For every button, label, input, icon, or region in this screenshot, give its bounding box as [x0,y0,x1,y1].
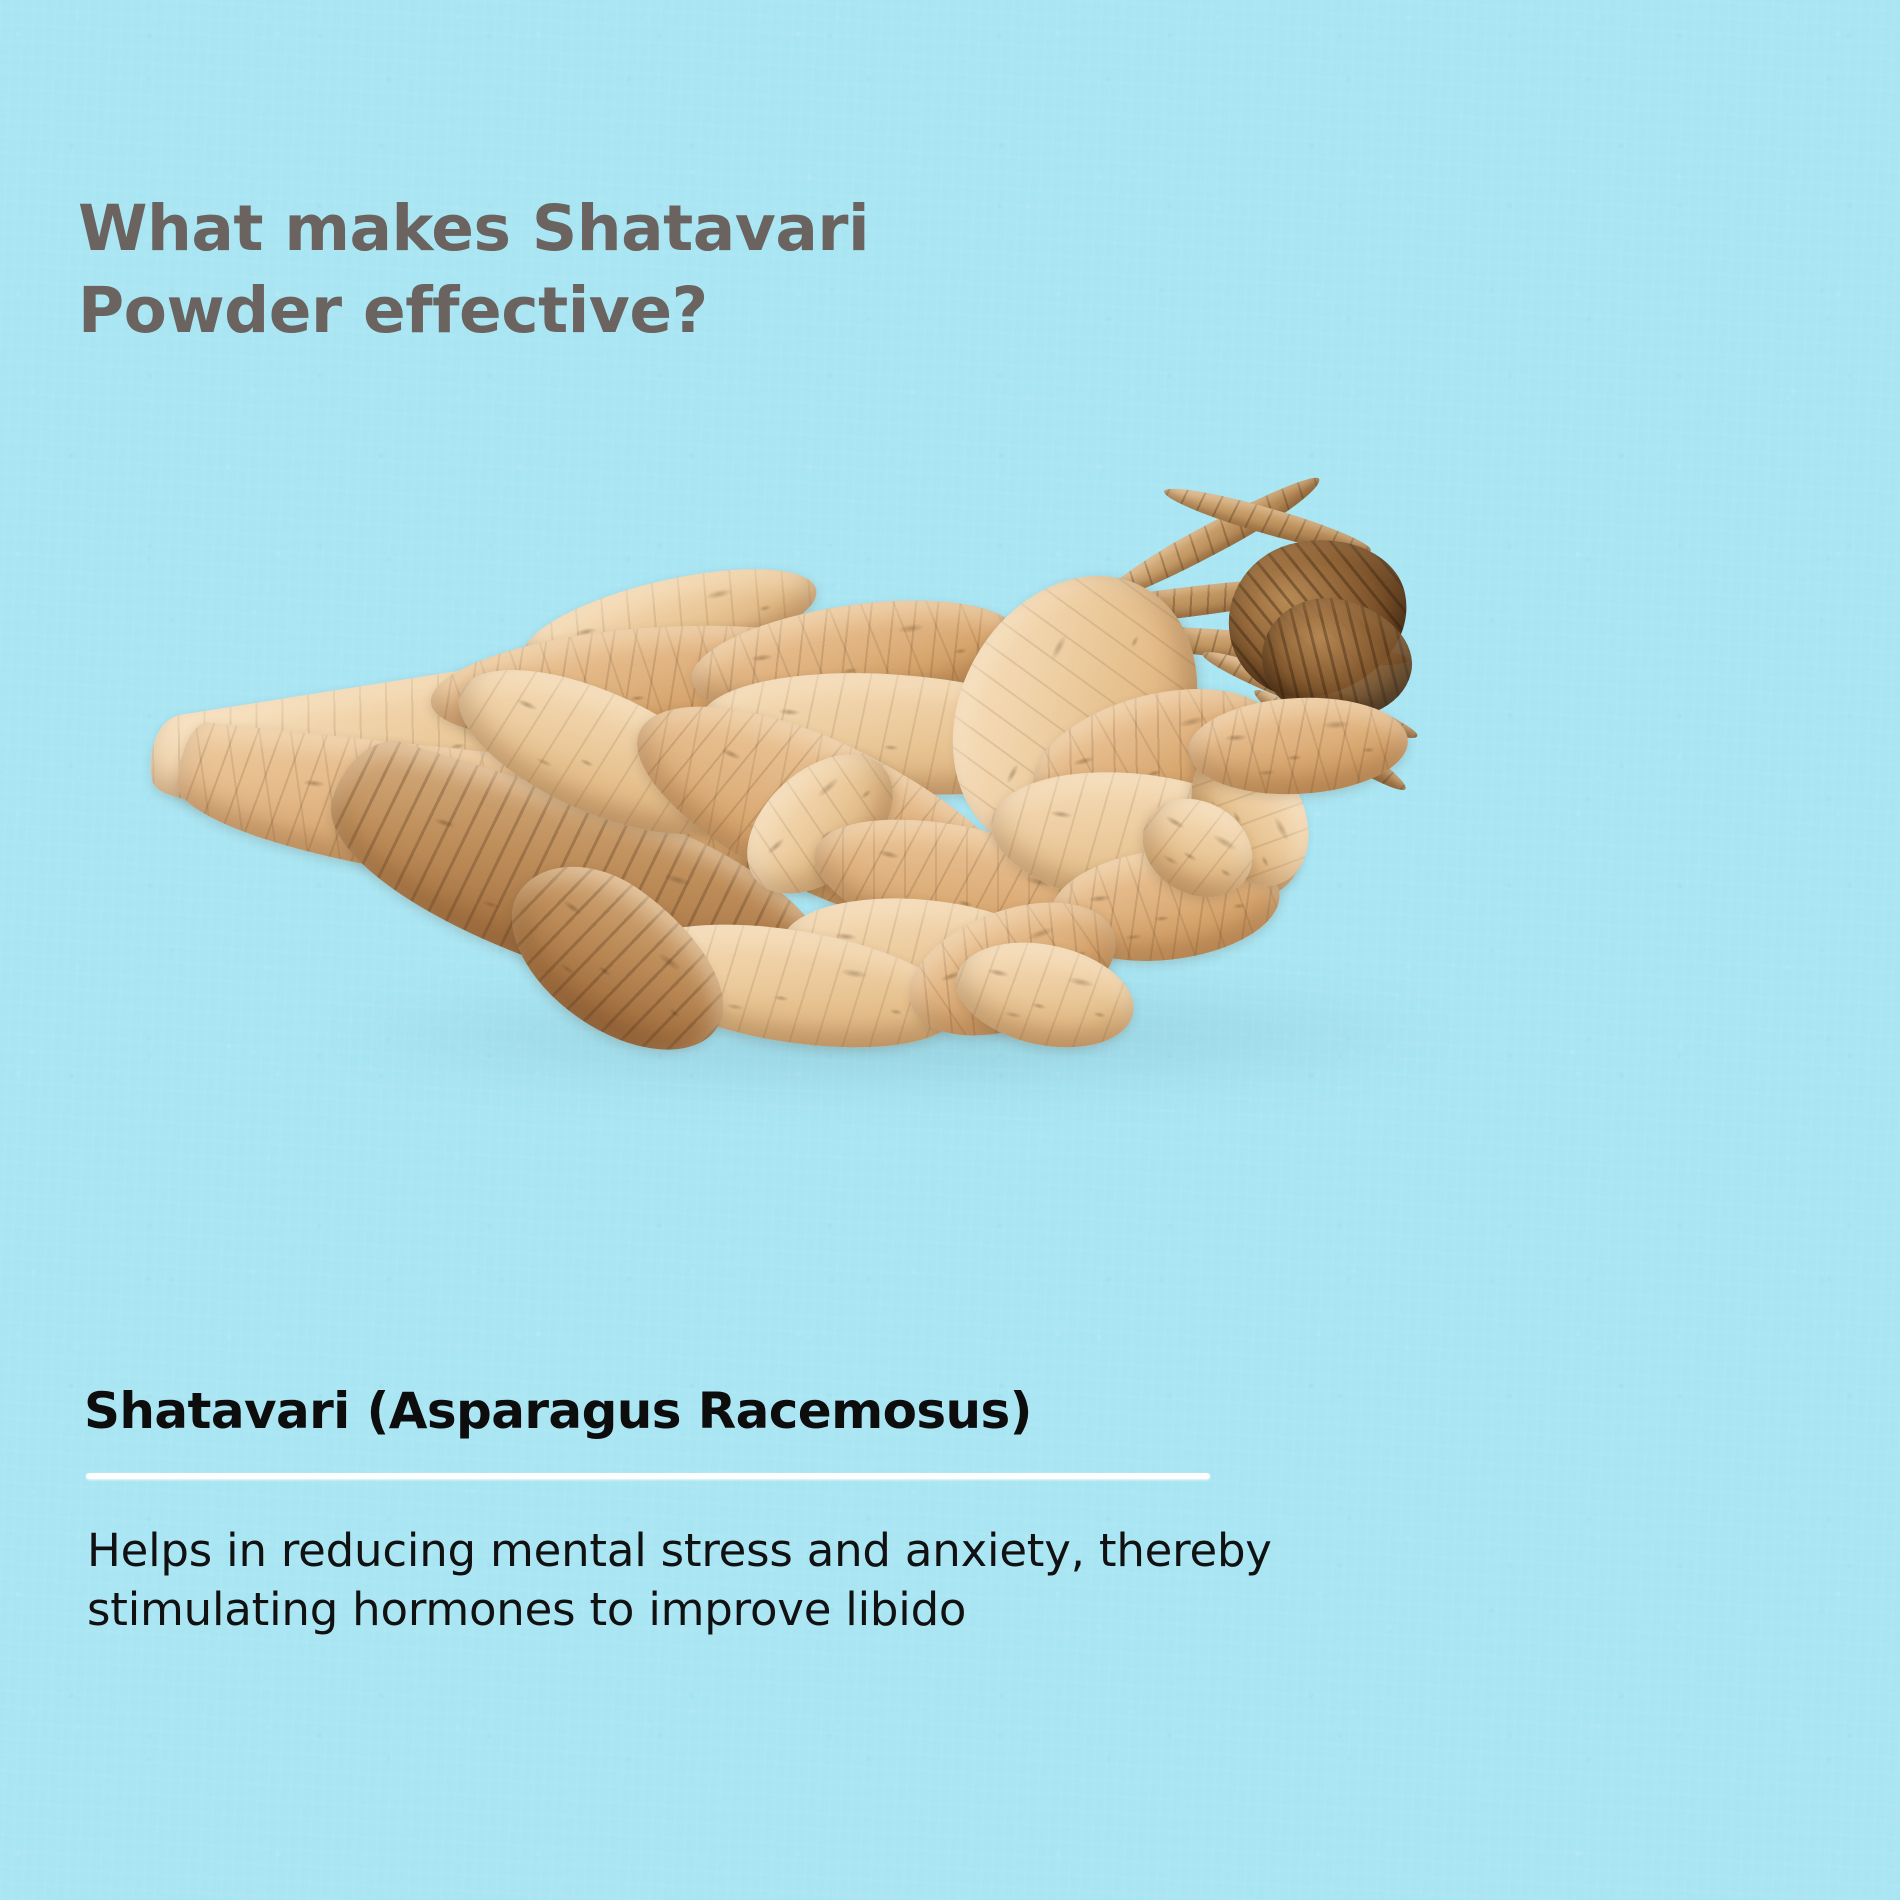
section-divider [86,1473,1210,1479]
page-title: What makes Shatavari Powder effective? [78,188,1178,352]
shatavari-root-image [0,470,1900,1130]
infographic-canvas: What makes Shatavari Powder effective? [0,0,1900,1900]
ingredient-description: Helps in reducing mental stress and anxi… [87,1522,1417,1639]
ingredient-title: Shatavari (Asparagus Racemosus) [84,1384,1032,1439]
